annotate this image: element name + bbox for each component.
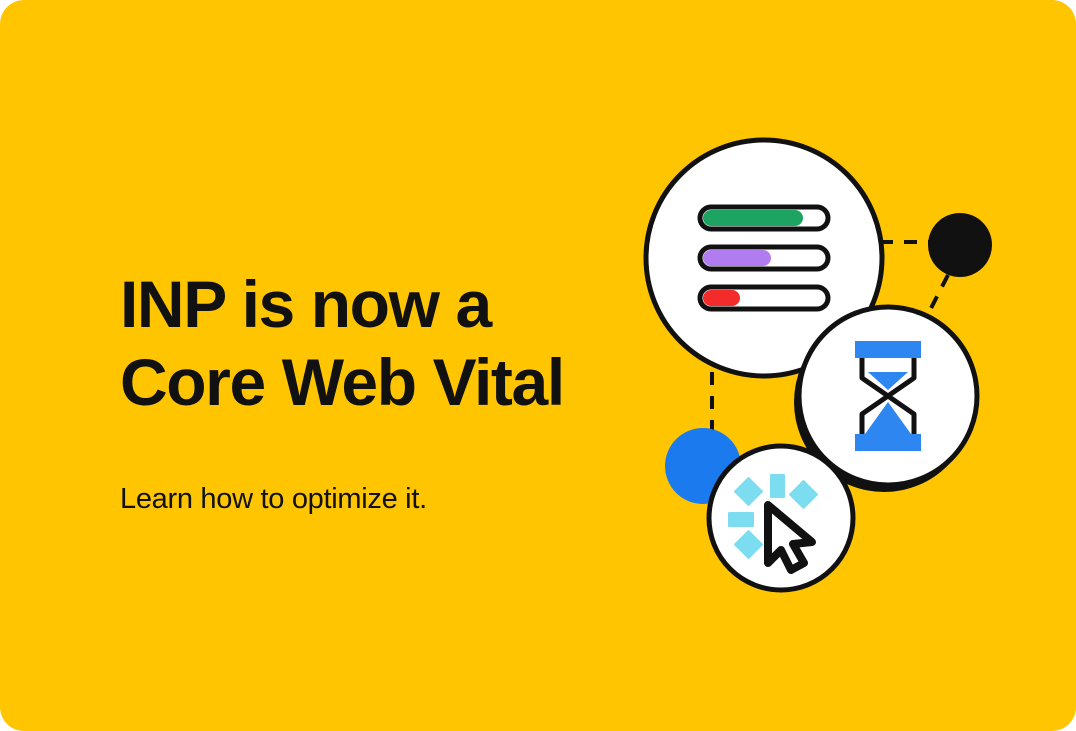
progress-bar-red-fill: [703, 290, 740, 306]
hourglass-icon: [855, 341, 921, 451]
spark-top: [770, 474, 785, 498]
connector-blackdot-to-hourglass: [926, 275, 948, 318]
subtitle: Learn how to optimize it.: [120, 421, 620, 517]
cursor-circle: [709, 446, 853, 590]
hourglass-cap-top: [855, 341, 921, 358]
progress-bar-purple-fill: [703, 250, 771, 266]
spark-upper-left: [734, 477, 764, 507]
spark-left: [728, 512, 754, 527]
hourglass-circle: [794, 307, 977, 492]
hourglass-cap-bottom: [855, 434, 921, 451]
hourglass-sand-top: [868, 372, 908, 390]
metrics-circle: [646, 140, 882, 376]
progress-bar-purple: [700, 247, 828, 269]
progress-bar-green-fill: [703, 210, 803, 226]
spark-upper-right: [789, 480, 819, 510]
progress-bar-red: [700, 287, 828, 309]
progress-bar-green: [700, 207, 828, 229]
black-dot: [928, 213, 992, 277]
cursor-arrow-icon: [768, 505, 812, 570]
hourglass-circle-shadow: [794, 312, 974, 492]
cursor-click-sparks: [728, 474, 818, 559]
hourglass-sand-bottom: [865, 402, 911, 434]
promo-banner: INP is now a Core Web Vital Learn how to…: [0, 0, 1076, 731]
spark-lower-left: [734, 530, 764, 560]
copy-block: INP is now a Core Web Vital Learn how to…: [120, 265, 620, 517]
blue-dot: [665, 428, 741, 504]
connector-lines: [712, 242, 948, 434]
page-title: INP is now a Core Web Vital: [120, 265, 620, 421]
